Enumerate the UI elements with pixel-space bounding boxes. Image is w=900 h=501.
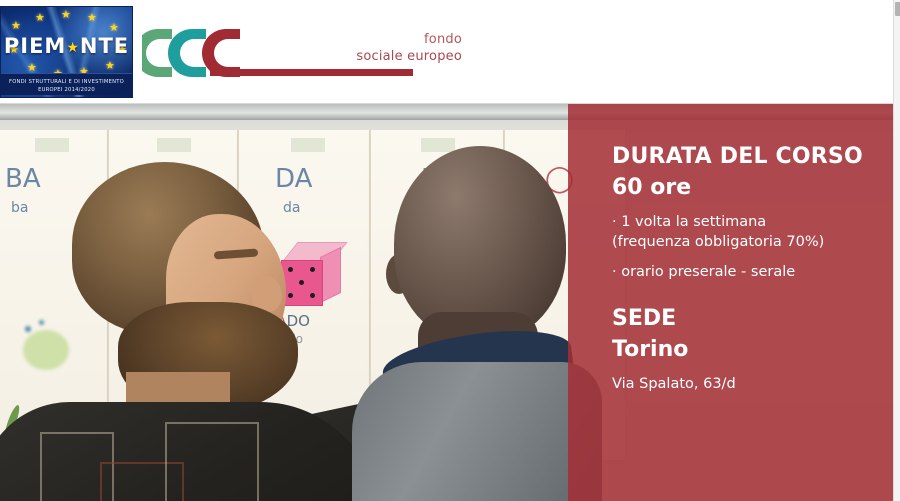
- eu-star-icon: ★: [105, 61, 115, 72]
- location-address: Via Spalato, 63/d: [612, 374, 893, 394]
- poster-dot: [25, 326, 31, 332]
- schedule-note-line2: (frequenza obbligatoria 70%): [612, 232, 893, 252]
- poster-dot: [39, 320, 44, 325]
- header-band: ★ ★ ★ ★ ★ ★ ★ ★ ★ ★ ★ PIEM★NTE FONDI STR…: [0, 0, 893, 104]
- dice-pip: [299, 280, 304, 285]
- dice-face-front: [281, 260, 323, 306]
- poster-illustration: [23, 330, 69, 370]
- piemonte-wordmark-part2: NTE: [80, 34, 129, 58]
- fse-logo: fondo sociale europeo: [142, 25, 462, 85]
- poster-tape: [35, 138, 69, 152]
- fse-text-line2: sociale europeo: [352, 48, 462, 65]
- dice-pip: [288, 267, 293, 272]
- page-root: ★ ★ ★ ★ ★ ★ ★ ★ ★ ★ ★ PIEM★NTE FONDI STR…: [0, 0, 900, 501]
- course-info-panel: DURATA DEL CORSO 60 ore · 1 volta la set…: [568, 104, 893, 501]
- location-city: Torino: [612, 334, 893, 366]
- duration-title: DURATA DEL CORSO: [612, 142, 893, 172]
- poster-tape: [421, 138, 455, 152]
- eu-star-icon: ★: [35, 13, 45, 24]
- dice-face-side: [320, 247, 341, 303]
- eu-star-icon: ★: [11, 21, 21, 32]
- schedule-note: · 1 volta la settimana (frequenza obblig…: [612, 212, 893, 252]
- dice-illustration: [281, 242, 343, 304]
- eu-star-icon: ★: [87, 13, 97, 24]
- sweater-pattern: [165, 422, 259, 501]
- schedule-note-line3: · orario preserale - serale: [612, 262, 893, 282]
- poster-tape: [291, 138, 325, 152]
- scrollbar-thumb[interactable]: [895, 2, 900, 16]
- page-scrollbar[interactable]: [893, 0, 900, 501]
- location-title: SEDE: [612, 304, 893, 334]
- piemonte-caption-line1: FONDI STRUTTURALI E DI INVESTIMENTO: [1, 78, 132, 86]
- duration-value: 60 ore: [612, 172, 893, 204]
- piemonte-caption: FONDI STRUTTURALI E DI INVESTIMENTO EURO…: [1, 73, 132, 95]
- fse-rule-bar: [210, 69, 413, 76]
- dice-pip: [310, 293, 315, 298]
- piemonte-wordmark-part1: PIEM: [4, 34, 66, 58]
- dice-pip: [310, 267, 315, 272]
- poster-letter-small: da: [283, 200, 300, 216]
- fse-text-line1: fondo: [352, 31, 462, 48]
- poster-letter-big: BA: [5, 164, 41, 194]
- piemonte-caption-line2: EUROPEI 2014/2020: [1, 86, 132, 94]
- piemonte-eu-logo: ★ ★ ★ ★ ★ ★ ★ ★ ★ ★ ★ PIEM★NTE FONDI STR…: [0, 6, 133, 98]
- piemonte-star-icon: ★: [66, 40, 80, 56]
- dice-pip: [288, 293, 293, 298]
- poster-letter-big: DA: [275, 164, 312, 194]
- poster-letter-small: ba: [11, 200, 28, 216]
- schedule-note-line1: · 1 volta la settimana: [612, 212, 893, 232]
- eu-star-icon: ★: [61, 10, 71, 21]
- fse-logo-text: fondo sociale europeo: [352, 31, 462, 65]
- eu-star-icon: ★: [109, 23, 119, 34]
- participant-right-sweater: [352, 362, 602, 501]
- piemonte-wordmark: PIEM★NTE: [1, 34, 132, 58]
- poster-tape: [157, 138, 191, 152]
